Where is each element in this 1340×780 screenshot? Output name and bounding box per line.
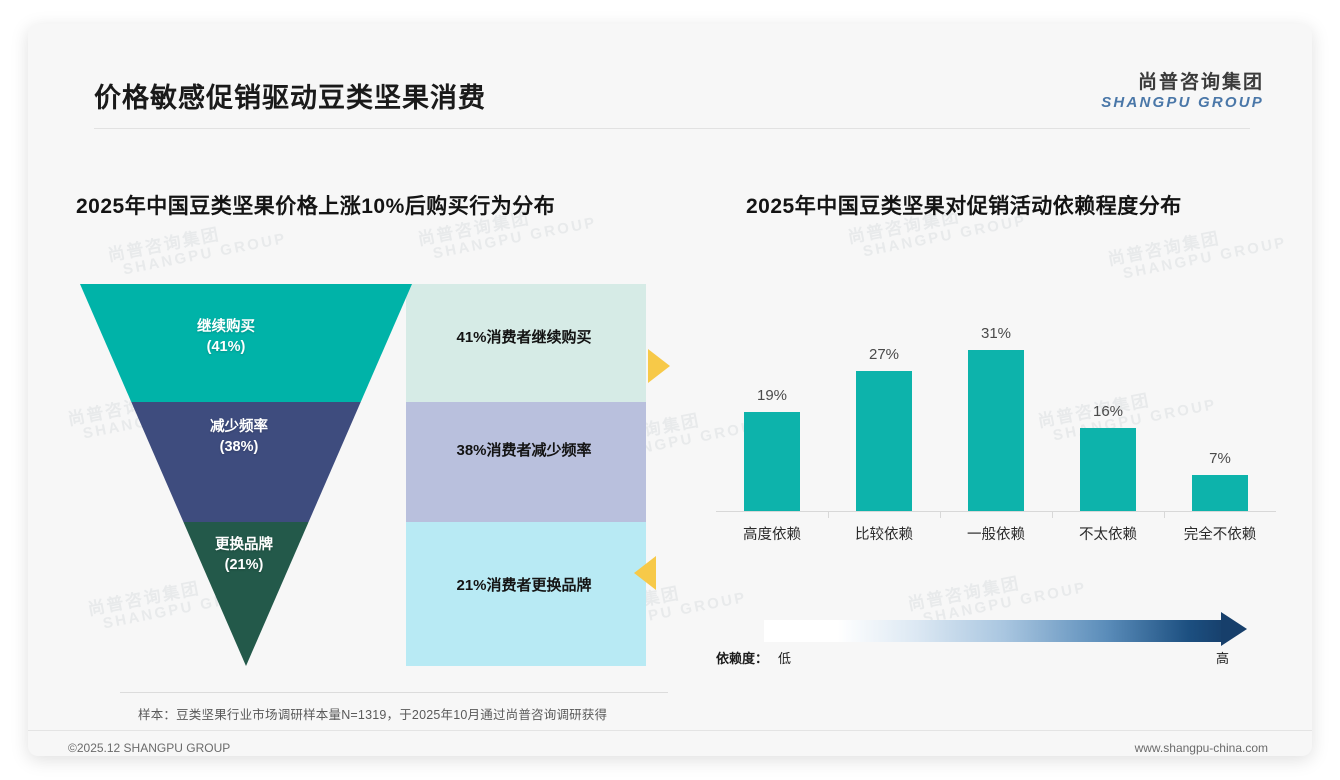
watermark-en: SHANGPU GROUP [122, 231, 289, 278]
funnel-side-text: 21%消费者更换品牌 [414, 574, 634, 595]
watermark: 尚普咨询集团 SHANGPU GROUP [1106, 217, 1288, 284]
bar[interactable] [1192, 475, 1248, 511]
footer-copyright: ©2025.12 SHANGPU GROUP [68, 741, 230, 755]
arrow-left-icon [634, 556, 656, 590]
x-axis-line [716, 511, 1276, 512]
funnel-stage-label: 减少频率 (38%) [164, 418, 314, 457]
logo-en-text: SHANGPU GROUP [1101, 94, 1264, 112]
bar-category-label: 完全不依赖 [1184, 523, 1257, 544]
bar-category-label: 不太依赖 [1079, 523, 1137, 544]
slide-card: 尚普咨询集团 SHANGPU GROUP 尚普咨询集团 SHANGPU GROU… [28, 24, 1312, 756]
gradient-arrow-head-icon [1221, 612, 1247, 646]
funnel-stage-value: (41%) [136, 338, 316, 358]
funnel-side-text: 38%消费者减少频率 [414, 439, 634, 460]
bar-plot-area: 19%高度依赖27%比较依赖31%一般依赖16%不太依赖7%完全不依赖 [716, 286, 1276, 554]
x-axis-tick [828, 511, 829, 518]
footer-website: www.shangpu-china.com [1135, 741, 1268, 755]
funnel-stage-value: (38%) [164, 438, 314, 458]
funnel-side-panel [406, 402, 646, 522]
legend-low-label: 低 [778, 648, 791, 667]
watermark-cn: 尚普咨询集团 [1106, 217, 1285, 269]
funnel-stage-label: 更换品牌 (21%) [186, 536, 302, 575]
watermark-en: SHANGPU GROUP [432, 215, 599, 262]
bar[interactable] [1080, 428, 1136, 511]
bar[interactable] [968, 350, 1024, 511]
x-axis-tick [1052, 511, 1053, 518]
footnote-text: 样本：豆类坚果行业市场调研样本量N=1319，于2025年10月通过尚普咨询调研… [138, 704, 607, 723]
arrow-right-icon [648, 349, 670, 383]
right-panel-title: 2025年中国豆类坚果对促销活动依赖程度分布 [746, 190, 1182, 220]
bar-chart: 19%高度依赖27%比较依赖31%一般依赖16%不太依赖7%完全不依赖 [716, 286, 1276, 596]
bar-category-label: 一般依赖 [967, 523, 1025, 544]
legend-key-label: 依赖度： [716, 648, 768, 667]
funnel-stage-name: 减少频率 [164, 418, 314, 438]
x-axis-tick [940, 511, 941, 518]
funnel-stage-value: (21%) [186, 556, 302, 576]
x-axis-tick [1164, 511, 1165, 518]
dependency-gradient-legend: 依赖度： 低 高 [716, 614, 1276, 672]
brand-logo: 尚普咨询集团 SHANGPU GROUP [1101, 72, 1264, 112]
header-divider [94, 128, 1250, 129]
bar-value-label: 19% [757, 387, 787, 404]
bar-value-label: 7% [1209, 450, 1231, 467]
page-title: 价格敏感促销驱动豆类坚果消费 [94, 76, 486, 115]
bar[interactable] [856, 371, 912, 511]
left-panel-title: 2025年中国豆类坚果价格上涨10%后购买行为分布 [76, 190, 555, 220]
funnel-stage-name: 继续购买 [136, 318, 316, 338]
bar-value-label: 16% [1093, 403, 1123, 420]
bar-value-label: 31% [981, 325, 1011, 342]
footer-divider [28, 730, 1312, 731]
funnel-chart: 继续购买 (41%) 减少频率 (38%) 更换品牌 (21%) 41%消费者继… [76, 276, 646, 666]
logo-cn-text: 尚普咨询集团 [1101, 72, 1264, 94]
bar-category-label: 比较依赖 [855, 523, 913, 544]
slide-header: 价格敏感促销驱动豆类坚果消费 尚普咨询集团 SHANGPU GROUP [28, 24, 1312, 122]
bar[interactable] [744, 412, 800, 511]
footnote-divider [120, 692, 668, 693]
gradient-bar [764, 620, 1226, 642]
watermark-cn: 尚普咨询集团 [106, 213, 285, 265]
watermark-en: SHANGPU GROUP [1122, 235, 1289, 282]
funnel-side-text: 41%消费者继续购买 [414, 326, 634, 347]
funnel-stage-label: 继续购买 (41%) [136, 318, 316, 357]
legend-high-label: 高 [1216, 648, 1229, 667]
watermark: 尚普咨询集团 SHANGPU GROUP [106, 213, 288, 280]
bar-category-label: 高度依赖 [743, 523, 801, 544]
bar-value-label: 27% [869, 346, 899, 363]
funnel-stage-name: 更换品牌 [186, 536, 302, 556]
